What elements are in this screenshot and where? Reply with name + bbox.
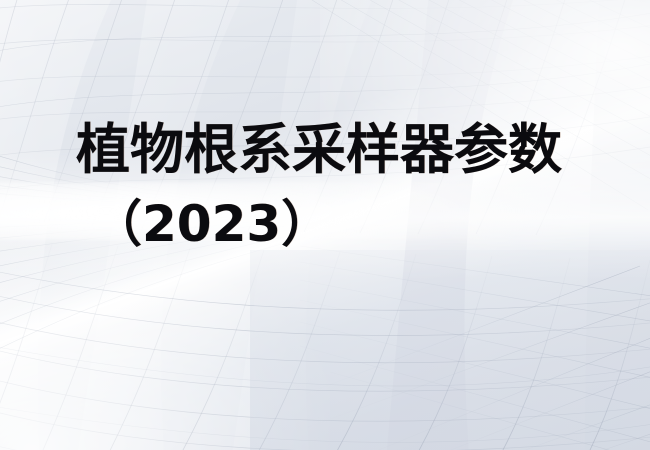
slide-title-block: 植物根系采样器参数 （2023） xyxy=(0,118,650,252)
slide-title-year: （2023） xyxy=(0,182,650,252)
bottom-right-shade xyxy=(250,250,650,450)
slide-title-primary: 植物根系采样器参数 xyxy=(0,118,650,182)
title-slide: 植物根系采样器参数 （2023） xyxy=(0,0,650,450)
